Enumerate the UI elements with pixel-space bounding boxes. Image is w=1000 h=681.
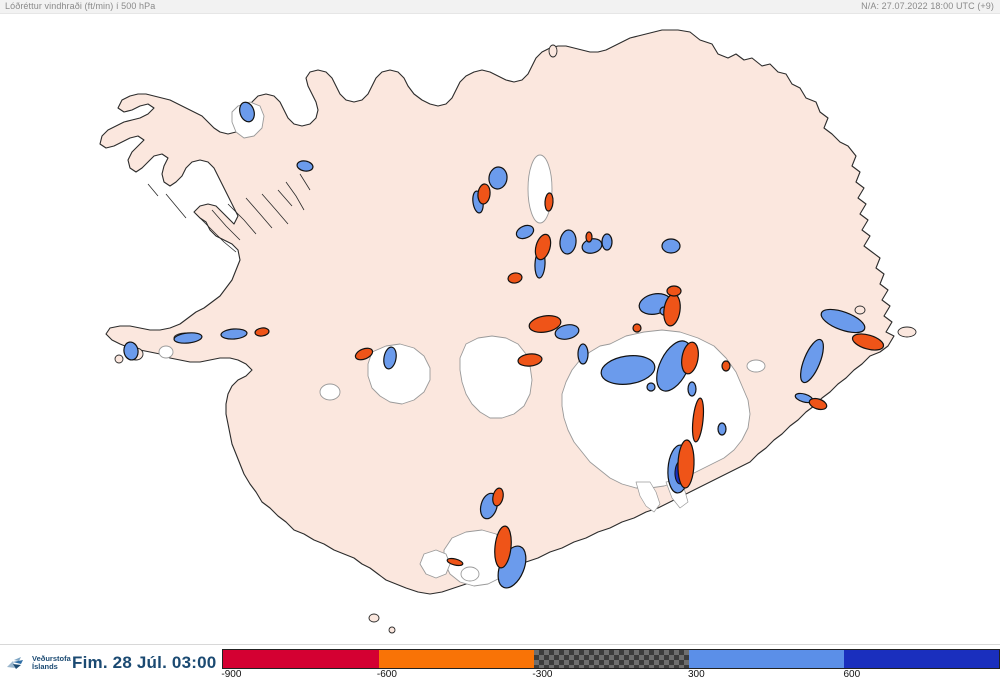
footer-bar: Veðurstofa Íslands Fim. 28 Júl. 03:00 -9…: [0, 644, 1000, 680]
legend-segment-strong-downdraft: [223, 650, 378, 668]
brand-block[interactable]: Veðurstofa Íslands: [0, 645, 68, 680]
updraft-blob: [647, 383, 655, 391]
updraft-blob: [602, 234, 612, 250]
legend-segment-moderate-downdraft: [379, 650, 534, 668]
brand-text: Veðurstofa Íslands: [32, 655, 71, 671]
downdraft-blob: [667, 286, 681, 296]
glacier-small-4: [320, 384, 340, 400]
brand-line-2: Íslands: [32, 663, 71, 671]
updraft-blob: [578, 344, 588, 364]
glacier-small-6: [159, 346, 173, 358]
legend-tick: 600: [843, 669, 860, 680]
updraft-blob: [662, 239, 680, 253]
legend-color-bar: [222, 649, 1000, 669]
downdraft-blob: [633, 324, 641, 332]
valid-time-label: Fim. 28 Júl. 03:00: [68, 645, 216, 680]
legend-tick: -600: [377, 669, 397, 680]
wind-barb-icon: [6, 653, 28, 673]
map-canvas[interactable]: [0, 14, 1000, 644]
page-title: Lóðréttur vindhraði (ft/min) í 500 hPa: [5, 1, 155, 11]
iceland-map-svg[interactable]: [0, 14, 1000, 644]
legend-tick: -300: [532, 669, 552, 680]
legend-tick-labels: -900 -600 -300 300 600: [222, 669, 1000, 681]
downdraft-blob: [722, 361, 730, 371]
color-legend[interactable]: -900 -600 -300 300 600: [222, 645, 1000, 680]
legend-segment-neutral: [534, 650, 689, 668]
legend-tick: 300: [688, 669, 705, 680]
downdraft-blob: [586, 232, 592, 242]
run-timestamp: N/A: 27.07.2022 18:00 UTC (+9): [861, 1, 994, 11]
updraft-blob: [718, 423, 726, 435]
glacier-small-2: [747, 360, 765, 372]
legend-segment-moderate-updraft: [689, 650, 844, 668]
legend-segment-strong-updraft: [844, 650, 999, 668]
updraft-blob: [688, 382, 696, 396]
glacier-small-1: [528, 155, 552, 223]
legend-tick: -900: [221, 669, 241, 680]
weather-map-app: Lóðréttur vindhraði (ft/min) í 500 hPa N…: [0, 0, 1000, 680]
glacier-small-5: [461, 567, 479, 581]
header-bar: Lóðréttur vindhraði (ft/min) í 500 hPa N…: [0, 0, 1000, 14]
